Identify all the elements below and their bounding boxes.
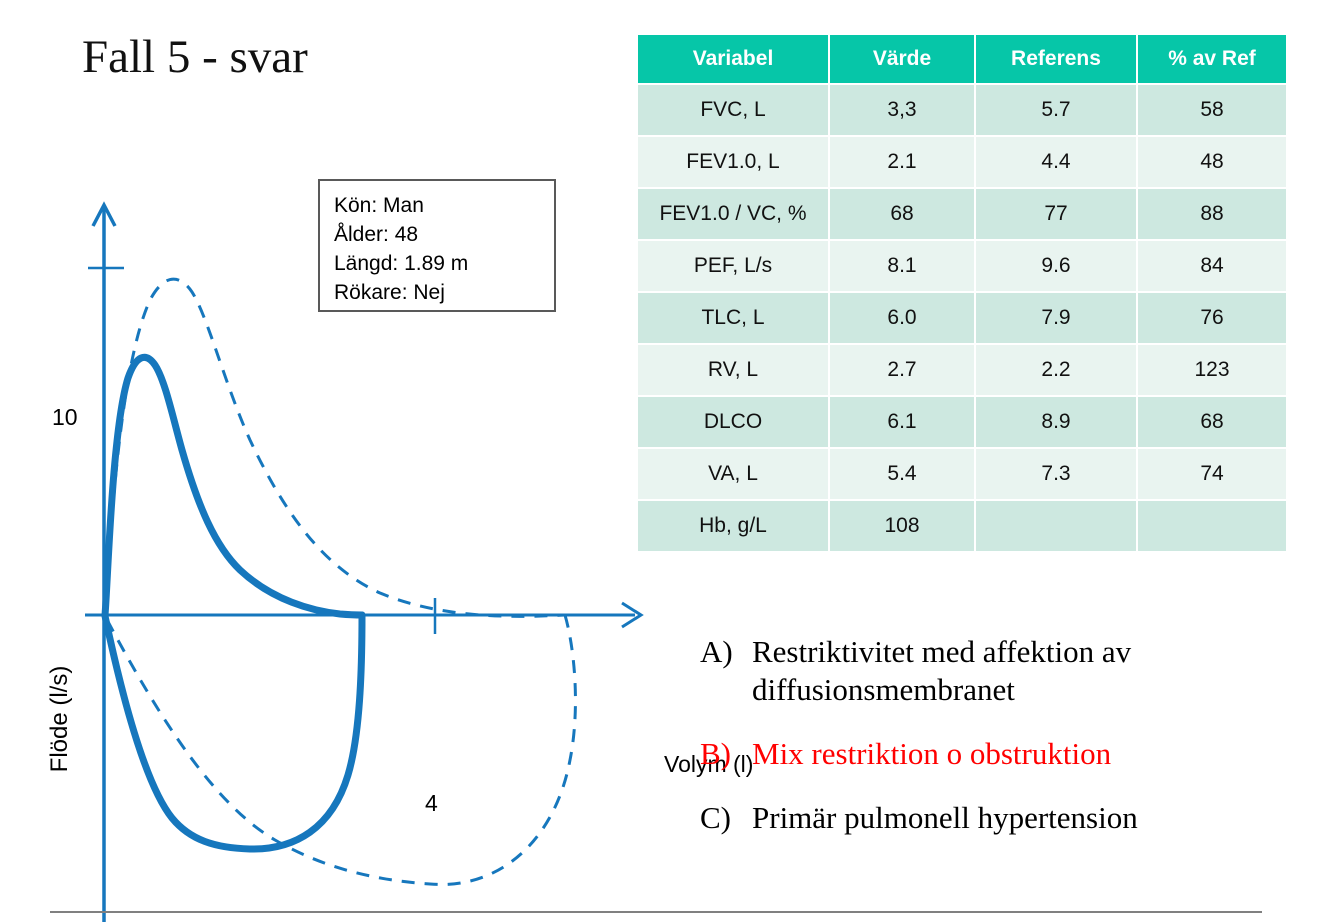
table-row: VA, L 5.4 7.3 74 bbox=[638, 449, 1286, 499]
table-row: FEV1.0, L 2.1 4.4 48 bbox=[638, 137, 1286, 187]
column-header-pct-ref: % av Ref bbox=[1138, 35, 1286, 83]
cell-pct: 88 bbox=[1138, 189, 1286, 239]
table-row: PEF, L/s 8.1 9.6 84 bbox=[638, 241, 1286, 291]
answer-text-b: Mix restriktion o obstruktion bbox=[752, 735, 1320, 773]
answer-option-b[interactable]: B) Mix restriktion o obstruktion bbox=[700, 735, 1320, 773]
cell-pct: 68 bbox=[1138, 397, 1286, 447]
answer-options-list: A) Restriktivitet med affektion av diffu… bbox=[700, 633, 1320, 864]
y-axis-tick-10: 10 bbox=[52, 404, 78, 431]
patient-curve bbox=[105, 357, 362, 849]
cell-referens: 5.7 bbox=[976, 85, 1136, 135]
answer-key-b: B) bbox=[700, 735, 752, 773]
y-axis-label: Flöde (l/s) bbox=[46, 629, 74, 809]
cell-varde: 8.1 bbox=[830, 241, 974, 291]
column-header-varde: Värde bbox=[830, 35, 974, 83]
cell-pct: 48 bbox=[1138, 137, 1286, 187]
answer-key-c: C) bbox=[700, 799, 752, 837]
table-row: FVC, L 3,3 5.7 58 bbox=[638, 85, 1286, 135]
cell-variabel: PEF, L/s bbox=[638, 241, 828, 291]
cell-pct: 74 bbox=[1138, 449, 1286, 499]
cell-variabel: Hb, g/L bbox=[638, 501, 828, 551]
cell-varde: 3,3 bbox=[830, 85, 974, 135]
footer-divider bbox=[50, 911, 1262, 913]
column-header-referens: Referens bbox=[976, 35, 1136, 83]
cell-varde: 68 bbox=[830, 189, 974, 239]
cell-referens: 7.3 bbox=[976, 449, 1136, 499]
column-header-variabel: Variabel bbox=[638, 35, 828, 83]
cell-varde: 2.1 bbox=[830, 137, 974, 187]
cell-variabel: FEV1.0, L bbox=[638, 137, 828, 187]
cell-referens: 7.9 bbox=[976, 293, 1136, 343]
page-title: Fall 5 - svar bbox=[82, 30, 308, 84]
cell-referens: 9.6 bbox=[976, 241, 1136, 291]
table-row: Hb, g/L 108 bbox=[638, 501, 1286, 551]
cell-variabel: DLCO bbox=[638, 397, 828, 447]
cell-referens: 4.4 bbox=[976, 137, 1136, 187]
cell-referens: 8.9 bbox=[976, 397, 1136, 447]
cell-variabel: FVC, L bbox=[638, 85, 828, 135]
table-header-row: Variabel Värde Referens % av Ref bbox=[638, 35, 1286, 83]
cell-pct: 58 bbox=[1138, 85, 1286, 135]
cell-referens: 77 bbox=[976, 189, 1136, 239]
x-axis-tick-4: 4 bbox=[425, 790, 438, 817]
cell-pct bbox=[1138, 501, 1286, 551]
answer-key-a: A) bbox=[700, 633, 752, 671]
cell-variabel: TLC, L bbox=[638, 293, 828, 343]
cell-variabel: RV, L bbox=[638, 345, 828, 395]
cell-varde: 5.4 bbox=[830, 449, 974, 499]
cell-varde: 6.1 bbox=[830, 397, 974, 447]
cell-pct: 76 bbox=[1138, 293, 1286, 343]
answer-option-c[interactable]: C) Primär pulmonell hypertension bbox=[700, 799, 1320, 837]
cell-referens bbox=[976, 501, 1136, 551]
cell-varde: 2.7 bbox=[830, 345, 974, 395]
flow-volume-chart: 10 4 Flöde (l/s) Volym (l) bbox=[0, 150, 680, 922]
answer-option-a[interactable]: A) Restriktivitet med affektion av diffu… bbox=[700, 633, 1320, 709]
table-row: RV, L 2.7 2.2 123 bbox=[638, 345, 1286, 395]
cell-varde: 108 bbox=[830, 501, 974, 551]
cell-pct: 123 bbox=[1138, 345, 1286, 395]
cell-variabel: FEV1.0 / VC, % bbox=[638, 189, 828, 239]
cell-varde: 6.0 bbox=[830, 293, 974, 343]
table-row: DLCO 6.1 8.9 68 bbox=[638, 397, 1286, 447]
table-row: FEV1.0 / VC, % 68 77 88 bbox=[638, 189, 1286, 239]
cell-pct: 84 bbox=[1138, 241, 1286, 291]
answer-text-a: Restriktivitet med affektion av diffusio… bbox=[752, 633, 1320, 709]
cell-variabel: VA, L bbox=[638, 449, 828, 499]
cell-referens: 2.2 bbox=[976, 345, 1136, 395]
table-row: TLC, L 6.0 7.9 76 bbox=[638, 293, 1286, 343]
spirometry-results-table: Variabel Värde Referens % av Ref FVC, L … bbox=[636, 33, 1288, 553]
answer-text-c: Primär pulmonell hypertension bbox=[752, 799, 1320, 837]
